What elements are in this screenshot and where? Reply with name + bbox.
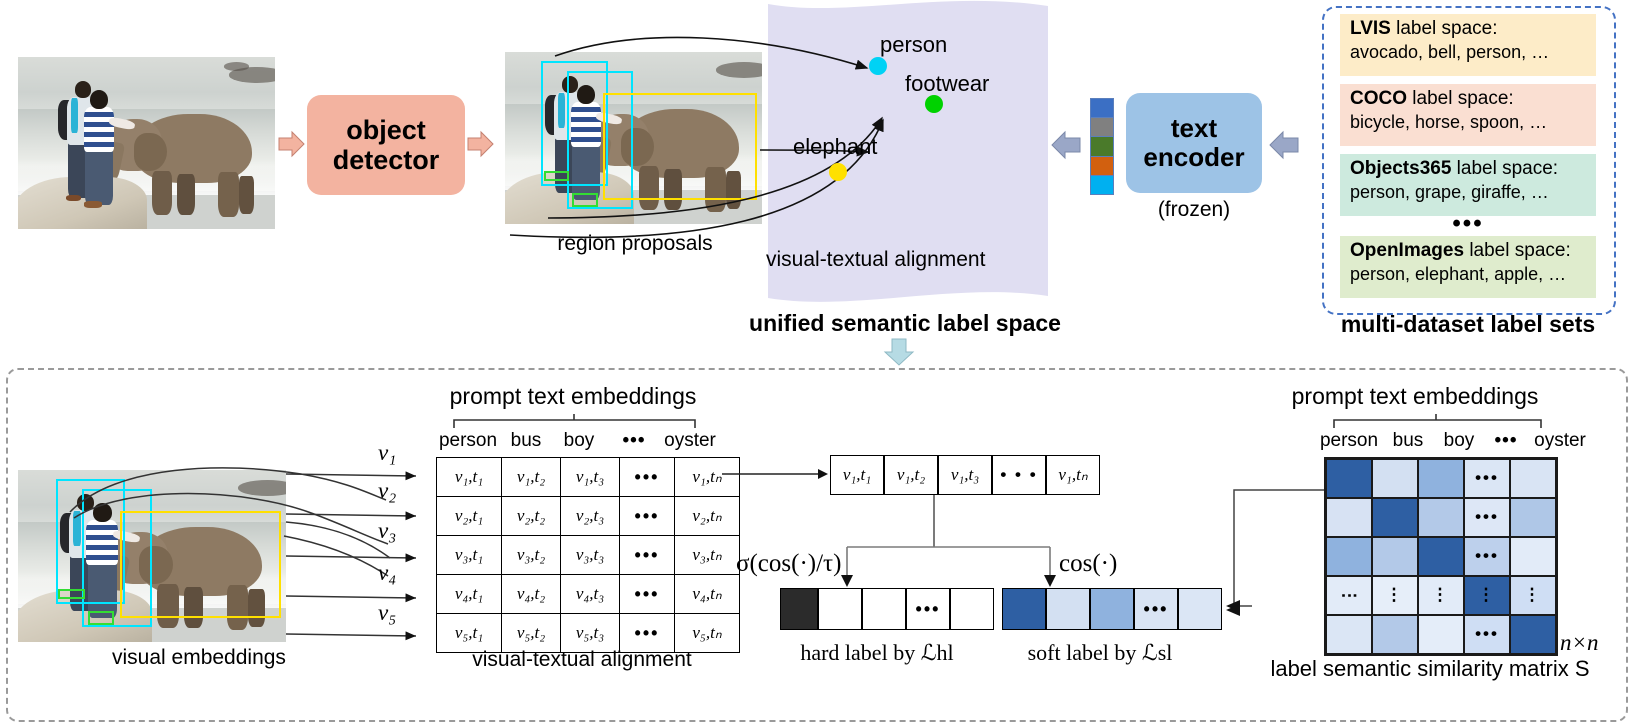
sim-cell: [1510, 615, 1556, 654]
dataset-labels: person, grape, giraffe, …: [1350, 181, 1586, 204]
sim-cell-ellipsis: •••: [1464, 537, 1510, 576]
soft-label-cell: [1002, 588, 1046, 630]
person-shoe: [84, 201, 102, 208]
sim-cell: [1326, 459, 1372, 498]
selected-vector-row: v₁,t₁ v₁,t₂ v₁,t₃ • • • v₁,tₙ: [830, 455, 1100, 495]
band-input-arrow: [1052, 132, 1080, 158]
dataset-card-objects365: Objects365 label space: person, grape, g…: [1340, 154, 1596, 216]
hard-label-cell: [780, 588, 818, 630]
unified-label-space-caption: unified semantic label space: [690, 310, 1120, 337]
grid-col-label-ellipsis: •••: [606, 430, 662, 452]
sim-cell: [1510, 459, 1556, 498]
sim-cell: [1418, 459, 1464, 498]
stage-arrow-1: [279, 132, 305, 156]
selected-vector-connector: [722, 465, 832, 495]
sim-col-label-person: person: [1314, 430, 1384, 452]
object-detector-box[interactable]: object detector: [307, 95, 465, 195]
hard-label-cell-ellipsis: •••: [906, 588, 950, 630]
object-detector-label-line2: detector: [333, 145, 440, 175]
sim-cell-ellipsis: •••: [1464, 615, 1510, 654]
label-similarity-matrix: ••• ••• ••• ⋮ ⋮ ⋮ ⋮ ⋮ •••: [1324, 457, 1558, 656]
sim-cell-vdots: ⋮: [1510, 576, 1556, 615]
encoder-input-arrow: [1270, 132, 1298, 158]
strip-cell: [1091, 99, 1113, 118]
soft-label-formula: cos(·): [1059, 550, 1117, 578]
cell: v₅,t₃: [561, 614, 620, 653]
vector-cell-ellipsis: • • •: [992, 455, 1046, 495]
cell: v₁,t₁: [437, 458, 502, 497]
dataset-name: OpenImages: [1350, 240, 1464, 261]
grid-col-label-oyster: oyster: [656, 430, 724, 452]
elephant-leg: [218, 172, 239, 217]
hard-label-caption: hard label by ℒhl: [762, 640, 992, 666]
cell: v₃,t₃: [561, 536, 620, 575]
dataset-title-row: OpenImages label space:: [1350, 239, 1586, 263]
person-head: [90, 90, 108, 109]
input-image: [18, 57, 275, 229]
dataset-suffix: label space:: [1407, 88, 1514, 109]
dataset-ellipsis: •••: [1340, 210, 1596, 238]
sim-cell: [1510, 537, 1556, 576]
text-encoder-label-line2: encoder: [1143, 143, 1244, 172]
sim-cell-vdots: ⋮: [1326, 576, 1372, 615]
dataset-name: LVIS: [1350, 18, 1391, 39]
hard-label-cell: [950, 588, 994, 630]
cell: v₃,tₙ: [675, 536, 740, 575]
cell: v₁,t₂: [502, 458, 561, 497]
prompt-brace-right: [1332, 414, 1546, 430]
dataset-labels: avocado, bell, person, …: [1350, 41, 1586, 64]
grid-col-label-person: person: [434, 430, 502, 452]
elephant-leg: [239, 176, 254, 214]
sim-cell: [1372, 615, 1418, 654]
alignment-caption-bottom: visual-textual alignment: [436, 648, 728, 672]
sim-col-label-bus: bus: [1382, 430, 1434, 452]
soft-label-bar: •••: [1002, 588, 1222, 630]
soft-label-cell: [1046, 588, 1090, 630]
sim-cell-ellipsis: •••: [1464, 459, 1510, 498]
table-row: v₁,t₁ v₁,t₂ v₁,t₃ ••• v₁,tₙ: [437, 458, 740, 497]
vector-cell: v₁,t₁: [830, 455, 884, 495]
sim-cell: [1510, 498, 1556, 537]
sim-col-label-oyster: oyster: [1524, 430, 1596, 452]
down-arrow: [885, 339, 913, 365]
grid-col-label-bus: bus: [500, 430, 552, 452]
hard-label-formula: σ(cos(·)/τ): [736, 550, 841, 578]
dataset-card-coco: COCO label space: bicycle, horse, spoon,…: [1340, 84, 1596, 146]
stage-arrow-2: [468, 132, 494, 156]
sim-cell: [1326, 615, 1372, 654]
cell-ellipsis: •••: [620, 536, 675, 575]
cell: v₂,tₙ: [675, 497, 740, 536]
person-torso-striped: [84, 107, 115, 152]
elephant-leg: [152, 171, 173, 216]
soft-label-caption: soft label by ℒsl: [985, 640, 1215, 666]
prompt-brace-left: [452, 414, 702, 430]
concept-label-person: person: [880, 32, 947, 58]
table-row: v₄,t₁ v₄,t₂ v₄,t₃ ••• v₄,tₙ: [437, 575, 740, 614]
person-legs: [85, 148, 113, 205]
sim-cell: [1372, 537, 1418, 576]
grid-col-label-boy: boy: [552, 430, 606, 452]
cell: v₂,t₃: [561, 497, 620, 536]
sim-cell-ellipsis: •••: [1464, 498, 1510, 537]
strip-cell: [1091, 137, 1113, 156]
table-row: v₂,t₁ v₂,t₂ v₂,t₃ ••• v₂,tₙ: [437, 497, 740, 536]
dataset-name: COCO: [1350, 88, 1407, 109]
hard-label-cell: [862, 588, 906, 630]
sim-cell: [1372, 498, 1418, 537]
visual-textual-alignment-grid: v₁,t₁ v₁,t₂ v₁,t₃ ••• v₁,tₙ v₂,t₁ v₂,t₂ …: [436, 457, 740, 653]
soft-label-cell-ellipsis: •••: [1134, 588, 1178, 630]
vector-cell: v₁,t₃: [938, 455, 992, 495]
concept-dot-elephant: [829, 163, 847, 181]
dataset-suffix: label space:: [1464, 240, 1571, 261]
cell: v₃,t₂: [502, 536, 561, 575]
cell: v₄,tₙ: [675, 575, 740, 614]
dataset-title-row: COCO label space:: [1350, 87, 1586, 111]
strip-cell: [1091, 157, 1113, 176]
person-head: [75, 81, 92, 98]
cell: v₃,t₁: [437, 536, 502, 575]
dataset-name: Objects365: [1350, 158, 1451, 179]
hard-label-cell: [818, 588, 862, 630]
hard-label-bar: •••: [780, 588, 994, 630]
cell: v₅,t₂: [502, 614, 561, 653]
cell-ellipsis: •••: [620, 575, 675, 614]
elephant-ear: [134, 133, 167, 171]
cell-ellipsis: •••: [620, 614, 675, 653]
dataset-title-row: Objects365 label space:: [1350, 157, 1586, 181]
cell-ellipsis: •••: [620, 497, 675, 536]
text-embedding-strip: [1090, 98, 1114, 195]
concept-label-elephant: elephant: [793, 134, 877, 160]
strip-cell: [1091, 118, 1113, 137]
dataset-labels: person, elephant, apple, …: [1350, 263, 1586, 286]
sim-cell: [1372, 459, 1418, 498]
prompt-heading-right: prompt text embeddings: [1250, 383, 1580, 410]
person-shoe: [66, 195, 81, 202]
concept-dot-footwear: [925, 95, 943, 113]
text-encoder-box[interactable]: text encoder: [1126, 93, 1262, 193]
sim-cell: [1418, 615, 1464, 654]
sim-cell-vdots: ⋮: [1418, 576, 1464, 615]
dataset-card-openimages: OpenImages label space: person, elephant…: [1340, 236, 1596, 298]
strip-cell: [1091, 176, 1113, 194]
soft-label-cell: [1178, 588, 1222, 630]
sim-cell-vdots: ⋮: [1372, 576, 1418, 615]
concept-label-footwear: footwear: [905, 71, 989, 97]
sim-cell: [1326, 498, 1372, 537]
similarity-matrix-size: n×n: [1560, 630, 1599, 656]
table-row: v₃,t₁ v₃,t₂ v₃,t₃ ••• v₃,tₙ: [437, 536, 740, 575]
table-row: v₅,t₁ v₅,t₂ v₅,t₃ ••• v₅,tₙ: [437, 614, 740, 653]
multi-dataset-caption: multi-dataset label sets: [1322, 311, 1614, 338]
cell: v₄,t₃: [561, 575, 620, 614]
soft-label-cell: [1090, 588, 1134, 630]
dataset-card-lvis: LVIS label space: avocado, bell, person,…: [1340, 14, 1596, 76]
cell: v₂,t₁: [437, 497, 502, 536]
sim-cell: [1418, 498, 1464, 537]
vector-cell: v₁,tₙ: [1046, 455, 1100, 495]
grid-input-arrows: [286, 452, 422, 642]
cell: v₄,t₂: [502, 575, 561, 614]
cell: v₅,tₙ: [675, 614, 740, 653]
cell: v₂,t₂: [502, 497, 561, 536]
sim-cell-vdots: ⋮: [1464, 576, 1510, 615]
softlabel-arrowhead: [1222, 600, 1242, 620]
object-detector-label-line1: object: [346, 115, 426, 145]
cell: v₅,t₁: [437, 614, 502, 653]
prompt-heading-left: prompt text embeddings: [418, 383, 728, 410]
dataset-suffix: label space:: [1391, 18, 1498, 39]
sim-cell: [1418, 537, 1464, 576]
concept-dot-person: [869, 57, 887, 75]
similarity-matrix-caption: label semantic similarity matrix S: [1250, 656, 1610, 682]
text-encoder-label-line1: text: [1171, 114, 1217, 143]
cell-ellipsis: •••: [620, 458, 675, 497]
elephant-leg: [177, 174, 195, 215]
dataset-suffix: label space:: [1451, 158, 1558, 179]
cell: v₄,t₁: [437, 575, 502, 614]
person-strap: [71, 98, 79, 132]
vector-cell: v₁,t₂: [884, 455, 938, 495]
dataset-labels: bicycle, horse, spoon, …: [1350, 111, 1586, 134]
sim-cell: [1326, 537, 1372, 576]
dataset-title-row: LVIS label space:: [1350, 17, 1586, 41]
band-alignment-caption: visual-textual alignment: [766, 248, 985, 272]
cell: v₁,t₃: [561, 458, 620, 497]
text-encoder-frozen-note: (frozen): [1126, 198, 1262, 222]
photo-rock-far2: [224, 62, 250, 71]
